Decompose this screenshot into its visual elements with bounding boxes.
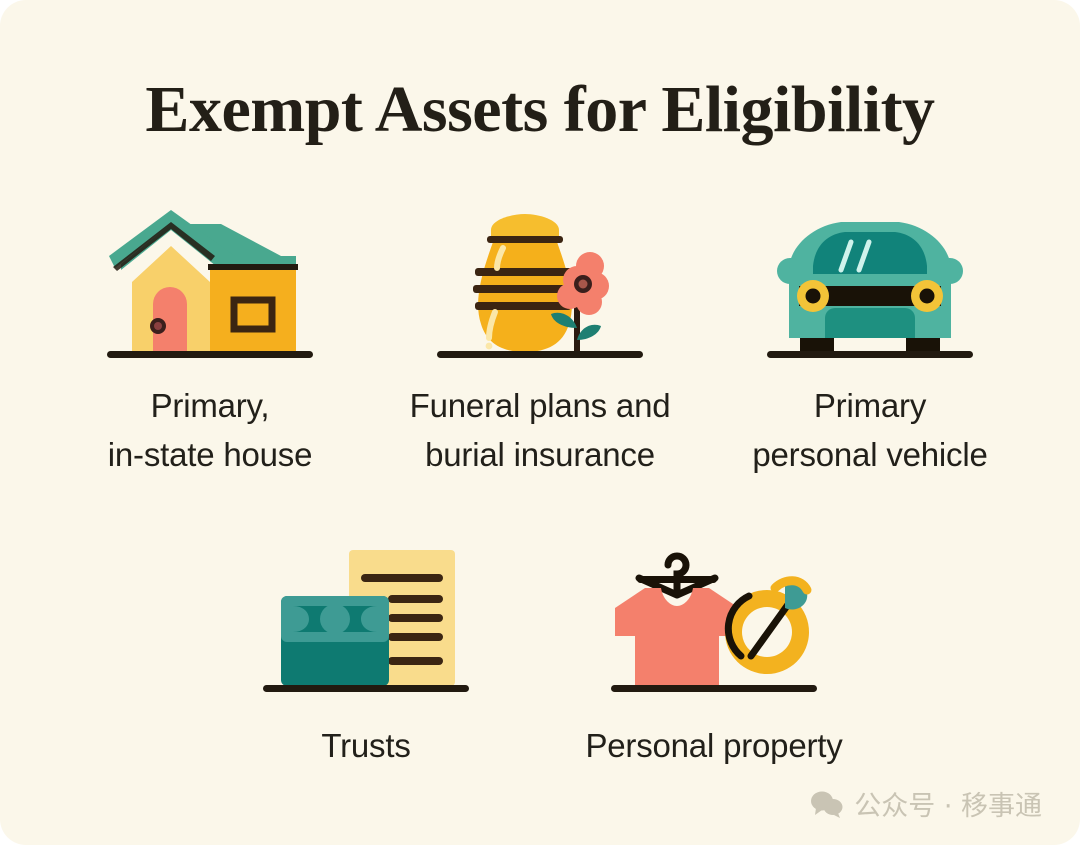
item-label-line-2: burial insurance bbox=[410, 431, 671, 480]
item-primary-in-state-house: Primary, in-state house bbox=[45, 208, 375, 480]
ground-line bbox=[437, 351, 643, 358]
item-label-line-2: personal vehicle bbox=[752, 431, 987, 480]
watermark-text: 公众号 · 移事通 bbox=[854, 784, 1042, 823]
house-icon bbox=[95, 208, 325, 358]
items-row-bottom: Trusts bbox=[0, 540, 1080, 771]
item-label-line-1: Funeral plans and bbox=[410, 382, 671, 431]
item-label-line-2: in-state house bbox=[108, 431, 313, 480]
ground-line bbox=[611, 685, 817, 692]
item-label: Trusts bbox=[321, 722, 410, 771]
page-title: Exempt Assets for Eligibility bbox=[0, 72, 1080, 148]
item-personal-property: Personal property bbox=[540, 540, 888, 771]
urn-flower-icon bbox=[425, 208, 655, 358]
watermark: 公众号 · 移事通 bbox=[810, 784, 1042, 823]
item-label-line-1: Trusts bbox=[321, 722, 410, 771]
ground-line bbox=[767, 351, 973, 358]
item-label: Personal property bbox=[585, 722, 842, 771]
items-row-top: Primary, in-state house bbox=[0, 208, 1080, 480]
car-icon bbox=[755, 208, 985, 358]
infographic-card: Exempt Assets for Eligibility bbox=[0, 0, 1080, 845]
item-primary-personal-vehicle: Primary personal vehicle bbox=[705, 208, 1035, 480]
item-label: Primary personal vehicle bbox=[752, 382, 987, 480]
item-label-line-1: Primary bbox=[752, 382, 987, 431]
item-funeral-plans-burial-insurance: Funeral plans and burial insurance bbox=[375, 208, 705, 480]
item-label: Primary, in-state house bbox=[108, 382, 313, 480]
item-label-line-1: Personal property bbox=[585, 722, 842, 771]
ground-line bbox=[107, 351, 313, 358]
ground-line bbox=[263, 685, 469, 692]
item-label: Funeral plans and burial insurance bbox=[410, 382, 671, 480]
item-trusts: Trusts bbox=[192, 540, 540, 771]
money-document-icon bbox=[251, 540, 481, 692]
item-label-line-1: Primary, bbox=[108, 382, 313, 431]
wechat-icon bbox=[810, 790, 844, 818]
tshirt-ring-icon bbox=[599, 540, 829, 692]
